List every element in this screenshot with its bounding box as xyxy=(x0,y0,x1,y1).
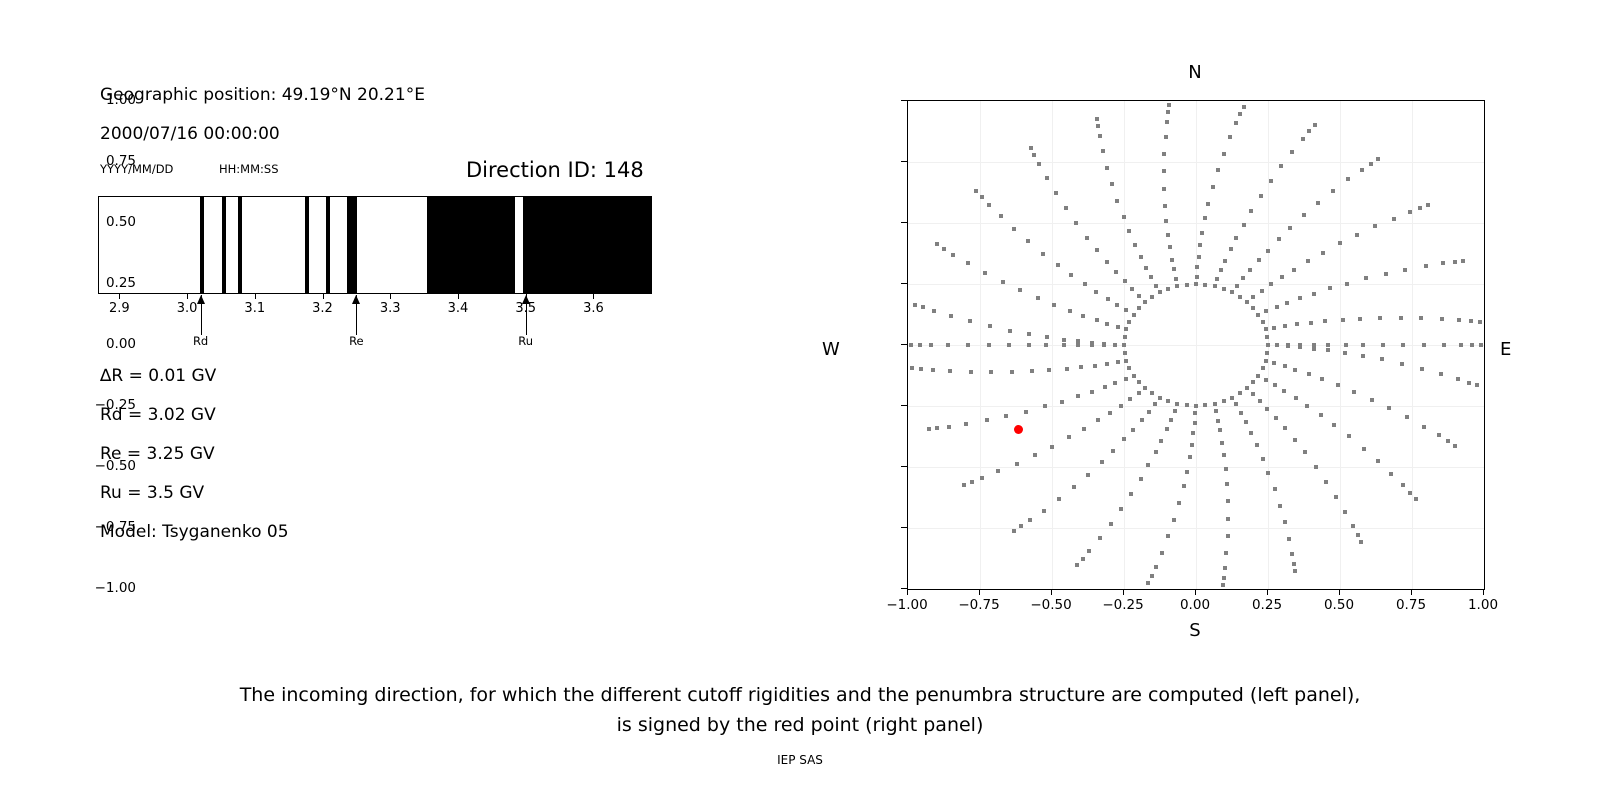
direction-point xyxy=(1241,276,1245,280)
direction-point xyxy=(1249,209,1253,213)
direction-point xyxy=(1119,507,1123,511)
direction-point xyxy=(1123,335,1127,339)
x-axis-tick xyxy=(907,589,908,595)
direction-point xyxy=(1442,343,1446,347)
direction-point xyxy=(1261,366,1265,370)
sky-map-plot-area xyxy=(907,100,1485,590)
direction-point xyxy=(1087,549,1091,553)
direction-point xyxy=(1264,359,1268,363)
direction-point xyxy=(1162,152,1166,156)
direction-point xyxy=(1168,245,1172,249)
direction-point xyxy=(1259,194,1263,198)
direction-point xyxy=(1137,380,1141,384)
direction-point xyxy=(980,476,984,480)
direction-point xyxy=(1306,259,1310,263)
direction-point xyxy=(1226,534,1230,538)
direction-point xyxy=(1235,284,1239,288)
direction-point xyxy=(1037,162,1041,166)
direction-point xyxy=(1081,557,1085,561)
direction-point xyxy=(1160,551,1164,555)
direction-point xyxy=(1114,270,1118,274)
direction-point xyxy=(935,242,939,246)
direction-point xyxy=(1185,470,1189,474)
direction-point xyxy=(1292,268,1296,272)
gridline-horizontal xyxy=(908,467,1484,468)
direction-point xyxy=(1286,343,1290,347)
direction-point xyxy=(1422,425,1426,429)
direction-point xyxy=(1150,295,1154,299)
direction-point xyxy=(1283,426,1287,430)
direction-point xyxy=(1244,420,1248,424)
direction-point xyxy=(1166,233,1170,237)
direction-point xyxy=(1137,306,1141,310)
direction-point xyxy=(987,203,991,207)
y-axis-tick-label: 0.00 xyxy=(106,336,136,352)
direction-point xyxy=(935,426,939,430)
direction-point xyxy=(1086,473,1090,477)
y-axis-tick xyxy=(901,466,907,467)
rigidity-tick-label: 2.9 xyxy=(109,301,130,316)
direction-point xyxy=(1045,335,1049,339)
direction-point xyxy=(1154,284,1158,288)
direction-point xyxy=(1143,300,1147,304)
direction-point xyxy=(1062,338,1066,342)
direction-point xyxy=(927,427,931,431)
direction-point xyxy=(1164,135,1168,139)
direction-point xyxy=(1124,327,1128,331)
direction-point xyxy=(1440,317,1444,321)
direction-point xyxy=(1123,279,1127,283)
direction-point xyxy=(1222,576,1226,580)
penumbra-forbidden-band xyxy=(222,197,226,293)
direction-point xyxy=(1047,368,1051,372)
direction-point xyxy=(1110,182,1114,186)
direction-point xyxy=(1343,351,1347,355)
direction-point xyxy=(1470,343,1474,347)
direction-point xyxy=(1144,266,1148,270)
direction-point xyxy=(1469,319,1473,323)
direction-point xyxy=(1090,343,1094,347)
rigidity-tick xyxy=(593,294,594,299)
direction-point xyxy=(1203,283,1207,287)
direction-point xyxy=(1081,314,1085,318)
direction-point xyxy=(1150,574,1154,578)
direction-point xyxy=(1364,276,1368,280)
direction-point xyxy=(983,271,987,275)
direction-point xyxy=(1146,463,1150,467)
direction-point xyxy=(1163,204,1167,208)
direction-point xyxy=(1229,247,1233,251)
direction-point xyxy=(999,214,1003,218)
direction-point xyxy=(1033,453,1037,457)
direction-point xyxy=(1239,411,1243,415)
direction-point xyxy=(1060,400,1064,404)
direction-point xyxy=(1242,223,1246,227)
direction-point xyxy=(1312,347,1316,351)
rigidity-marker-arrow-re xyxy=(356,295,357,335)
direction-point xyxy=(1012,529,1016,533)
rigidity-marker-label-ru: Ru xyxy=(518,334,533,348)
direction-point xyxy=(1238,391,1242,395)
direction-point xyxy=(1321,251,1325,255)
rigidity-tick xyxy=(255,294,256,299)
direction-point xyxy=(1115,303,1119,307)
direction-point xyxy=(1124,308,1128,312)
direction-point xyxy=(1328,286,1332,290)
direction-point xyxy=(1437,433,1441,437)
direction-point xyxy=(1399,316,1403,320)
direction-point xyxy=(1052,303,1056,307)
y-axis-tick-label: 0.75 xyxy=(106,153,136,169)
direction-point xyxy=(1213,402,1217,406)
direction-point xyxy=(1459,343,1463,347)
direction-point xyxy=(1124,377,1128,381)
direction-point xyxy=(1166,287,1170,291)
direction-point xyxy=(1478,320,1482,324)
direction-point xyxy=(1226,499,1230,503)
direction-point xyxy=(1283,520,1287,524)
direction-point xyxy=(966,343,970,347)
penumbra-forbidden-band xyxy=(305,197,309,293)
direction-point xyxy=(1341,318,1345,322)
direction-point xyxy=(1056,263,1060,267)
direction-point xyxy=(1105,322,1109,326)
direction-point xyxy=(1076,394,1080,398)
direction-point xyxy=(1282,389,1286,393)
direction-point xyxy=(1216,419,1220,423)
penumbra-forbidden-band xyxy=(200,197,204,293)
direction-point xyxy=(951,253,955,257)
direction-point xyxy=(1261,320,1265,324)
direction-point xyxy=(1266,471,1270,475)
direction-point xyxy=(1264,378,1268,382)
direction-point xyxy=(1343,510,1347,514)
x-axis-tick-label: 0.50 xyxy=(1324,597,1354,613)
direction-point xyxy=(1346,177,1350,181)
direction-point xyxy=(1338,241,1342,245)
direction-point xyxy=(1193,421,1197,425)
direction-point xyxy=(921,305,925,309)
rigidity-tick xyxy=(458,294,459,299)
direction-point xyxy=(1191,431,1195,435)
direction-point xyxy=(1123,351,1127,355)
rigidity-tick xyxy=(119,294,120,299)
direction-point xyxy=(1303,450,1307,454)
direction-point xyxy=(1422,343,1426,347)
direction-point xyxy=(1004,414,1008,418)
direction-point xyxy=(949,314,953,318)
direction-point xyxy=(1456,377,1460,381)
direction-point xyxy=(1222,453,1226,457)
direction-point xyxy=(1272,361,1276,365)
rigidity-tick-label: 3.4 xyxy=(448,301,469,316)
selected-direction-point[interactable] xyxy=(1014,425,1023,434)
direction-point xyxy=(1403,268,1407,272)
direction-point xyxy=(1062,343,1066,347)
direction-point xyxy=(1105,260,1109,264)
direction-point xyxy=(1177,501,1181,505)
direction-point xyxy=(988,324,992,328)
direction-point xyxy=(1111,449,1115,453)
x-axis-tick-label: −1.00 xyxy=(886,597,927,613)
direction-point xyxy=(1069,273,1073,277)
direction-point xyxy=(980,195,984,199)
direction-point xyxy=(1420,367,1424,371)
direction-point xyxy=(1223,259,1227,263)
gridline-horizontal xyxy=(908,162,1484,163)
penumbra-forbidden-band xyxy=(326,197,330,293)
direction-point xyxy=(1115,199,1119,203)
direction-point xyxy=(1137,391,1141,395)
direction-point xyxy=(1182,484,1186,488)
direction-point xyxy=(1128,397,1132,401)
direction-point xyxy=(1068,309,1072,313)
direction-point xyxy=(1275,343,1279,347)
direction-point xyxy=(1095,248,1099,252)
direction-point xyxy=(1158,396,1162,400)
direction-point xyxy=(1392,217,1396,221)
x-axis-tick xyxy=(979,589,980,595)
direction-point xyxy=(1195,265,1199,269)
compass-label-west: W xyxy=(822,339,840,360)
direction-point xyxy=(1096,124,1100,128)
x-axis-tick xyxy=(1411,589,1412,595)
direction-point xyxy=(1103,385,1107,389)
direction-point xyxy=(1387,406,1391,410)
direction-point xyxy=(1352,390,1356,394)
direction-point xyxy=(1095,117,1099,121)
direction-point xyxy=(1238,112,1242,116)
direction-point xyxy=(1050,445,1054,449)
direction-point xyxy=(1332,423,1336,427)
direction-point xyxy=(1185,403,1189,407)
y-axis-tick xyxy=(901,527,907,528)
direction-point xyxy=(1127,320,1131,324)
direction-point xyxy=(1370,398,1374,402)
direction-point xyxy=(1018,288,1022,292)
direction-point xyxy=(1083,282,1087,286)
direction-point xyxy=(1361,343,1365,347)
direction-point xyxy=(1162,187,1166,191)
direction-point xyxy=(1419,316,1423,320)
direction-point xyxy=(1373,224,1377,228)
direction-point xyxy=(1012,227,1016,231)
compass-label-south: S xyxy=(1189,620,1200,641)
direction-point xyxy=(1358,317,1362,321)
direction-point xyxy=(1064,206,1068,210)
y-axis-tick xyxy=(901,344,907,345)
direction-point xyxy=(1010,370,1014,374)
y-axis-tick-label: −0.75 xyxy=(95,519,136,535)
rigidity-marker-label-re: Re xyxy=(349,334,364,348)
direction-point xyxy=(1188,455,1192,459)
direction-point xyxy=(1215,277,1219,281)
direction-point xyxy=(1222,399,1226,403)
direction-point xyxy=(1173,409,1177,413)
direction-point xyxy=(1105,362,1109,366)
direction-point xyxy=(1149,275,1153,279)
penumbra-forbidden-band xyxy=(427,197,515,293)
gridline-horizontal xyxy=(908,223,1484,224)
direction-point xyxy=(1090,390,1094,394)
direction-point xyxy=(968,319,972,323)
direction-point xyxy=(1273,383,1277,387)
direction-point xyxy=(1076,343,1080,347)
direction-point xyxy=(1213,284,1217,288)
direction-point xyxy=(1273,487,1277,491)
direction-point xyxy=(1294,396,1298,400)
direction-point xyxy=(1216,168,1220,172)
direction-point xyxy=(1054,191,1058,195)
direction-point xyxy=(1193,411,1197,415)
direction-point xyxy=(1170,258,1174,262)
direction-point xyxy=(1307,372,1311,376)
direction-id-text: Direction ID: 148 xyxy=(466,158,644,182)
y-axis-tick xyxy=(901,222,907,223)
direction-point xyxy=(932,309,936,313)
direction-point xyxy=(1380,357,1384,361)
direction-point xyxy=(1027,343,1031,347)
direction-point xyxy=(1079,365,1083,369)
direction-point xyxy=(1101,149,1105,153)
direction-point xyxy=(1224,467,1228,471)
direction-point xyxy=(1260,289,1264,293)
direction-point xyxy=(1154,450,1158,454)
direction-point xyxy=(1274,416,1278,420)
direction-point xyxy=(1298,343,1302,347)
direction-point xyxy=(1313,123,1317,127)
rigidity-tick xyxy=(323,294,324,299)
direction-point xyxy=(1293,368,1297,372)
direction-point xyxy=(1336,383,1340,387)
direction-point xyxy=(1230,290,1234,294)
direction-point xyxy=(1162,169,1166,173)
direction-point xyxy=(1312,343,1316,347)
direction-point xyxy=(1376,459,1380,463)
direction-point xyxy=(1293,438,1297,442)
direction-point xyxy=(1424,264,1428,268)
direction-point xyxy=(985,418,989,422)
direction-point xyxy=(1169,418,1173,422)
direction-point xyxy=(1175,284,1179,288)
direction-point xyxy=(1219,268,1223,272)
direction-point xyxy=(1369,162,1373,166)
x-axis-tick xyxy=(1195,589,1196,595)
direction-point xyxy=(1309,321,1313,325)
direction-point xyxy=(1150,391,1154,395)
direction-point xyxy=(1106,297,1110,301)
direction-point xyxy=(1401,343,1405,347)
direction-point xyxy=(1174,277,1178,281)
direction-point xyxy=(1190,443,1194,447)
rigidity-tick-label: 3.2 xyxy=(312,301,333,316)
y-axis-tick-label: 0.50 xyxy=(106,214,136,230)
direction-point xyxy=(1122,343,1126,347)
direction-point xyxy=(1288,226,1292,230)
x-axis-tick xyxy=(1051,589,1052,595)
direction-point xyxy=(1030,369,1034,373)
y-axis-tick-label: 1.00 xyxy=(106,92,136,108)
direction-point xyxy=(1194,282,1198,286)
direction-point xyxy=(1467,381,1471,385)
direction-point xyxy=(1194,404,1198,408)
footer-credit: IEP SAS xyxy=(0,753,1600,767)
direction-point xyxy=(1414,497,1418,501)
direction-point xyxy=(1001,280,1005,284)
direction-point xyxy=(1124,359,1128,363)
direction-point xyxy=(1323,319,1327,323)
x-axis-tick xyxy=(1267,589,1268,595)
direction-point xyxy=(1285,301,1289,305)
direction-point xyxy=(1203,216,1207,220)
penumbra-forbidden-band xyxy=(347,197,357,293)
direction-point xyxy=(1245,300,1249,304)
direction-point xyxy=(1405,415,1409,419)
direction-point xyxy=(1159,439,1163,443)
y-axis-tick-label: 0.25 xyxy=(106,275,136,291)
direction-point xyxy=(1453,444,1457,448)
direction-point xyxy=(1122,437,1126,441)
direction-point xyxy=(1298,296,1302,300)
direction-point xyxy=(1275,305,1279,309)
direction-point xyxy=(1295,322,1299,326)
rigidity-marker-label-rd: Rd xyxy=(193,334,208,348)
direction-point xyxy=(1214,409,1218,413)
direction-point xyxy=(1137,294,1141,298)
caption-line-1: The incoming direction, for which the di… xyxy=(0,680,1600,710)
direction-point xyxy=(1085,236,1089,240)
direction-point xyxy=(1065,367,1069,371)
direction-point xyxy=(1044,343,1048,347)
figure-caption: The incoming direction, for which the di… xyxy=(0,680,1600,740)
direction-point xyxy=(1105,166,1109,170)
x-axis-tick-label: 1.00 xyxy=(1468,597,1498,613)
direction-point xyxy=(1042,509,1046,513)
direction-point xyxy=(1446,439,1450,443)
direction-point xyxy=(970,480,974,484)
x-axis-tick-label: −0.75 xyxy=(958,597,999,613)
direction-point xyxy=(987,343,991,347)
direction-point xyxy=(1418,206,1422,210)
cutoff-value-line: Ru = 3.5 GV xyxy=(100,483,204,503)
direction-point xyxy=(1439,372,1443,376)
direction-point xyxy=(1015,462,1019,466)
direction-point xyxy=(1224,551,1228,555)
direction-point xyxy=(969,370,973,374)
direction-point xyxy=(1195,275,1199,279)
direction-point xyxy=(1256,374,1260,378)
direction-point xyxy=(1302,213,1306,217)
direction-point xyxy=(910,366,914,370)
direction-point xyxy=(947,425,951,429)
direction-point xyxy=(1028,518,1032,522)
direction-point xyxy=(1280,275,1284,279)
direction-point xyxy=(1314,465,1318,469)
direction-point xyxy=(1266,249,1270,253)
direction-point xyxy=(1041,252,1045,256)
direction-point xyxy=(1119,404,1123,408)
direction-point xyxy=(1166,534,1170,538)
direction-point xyxy=(1324,480,1328,484)
direction-point xyxy=(1251,295,1255,299)
direction-point xyxy=(1475,383,1479,387)
direction-point xyxy=(1096,418,1100,422)
direction-point xyxy=(1127,366,1131,370)
direction-point xyxy=(1301,137,1305,141)
direction-point xyxy=(1256,313,1260,317)
direction-point xyxy=(1029,146,1033,150)
direction-point xyxy=(1359,540,1363,544)
